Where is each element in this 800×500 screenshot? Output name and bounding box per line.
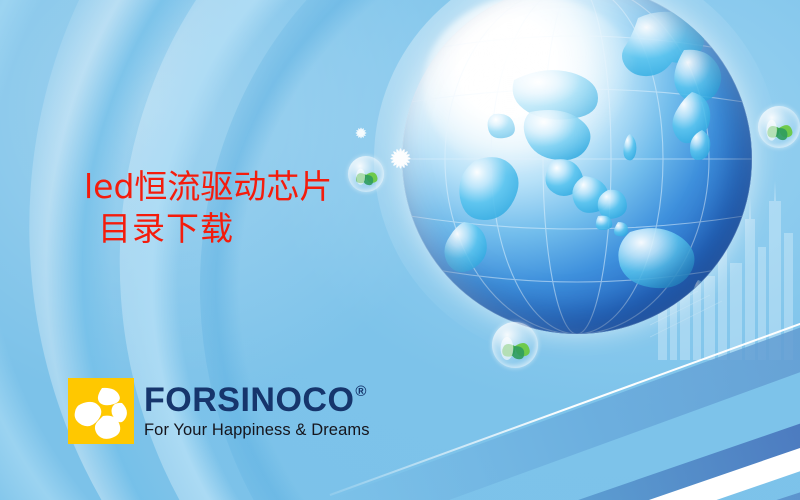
headline-line-2: 目录下载 — [98, 208, 332, 250]
brand-logo: FORSINOCO® For Your Happiness & Dreams — [68, 378, 370, 444]
headline: led恒流驱动芯片 目录下载 — [84, 166, 332, 249]
bubble-lower — [492, 322, 538, 368]
bubble-right-edge — [758, 106, 800, 148]
logo-mark-pinwheel-icon — [68, 378, 134, 444]
promo-banner: led恒流驱动芯片 目录下载 FORSINOCO® For Your Happi… — [0, 0, 800, 500]
ribbon-blue-dark — [424, 371, 800, 500]
ribbon-blue-dark-2 — [468, 434, 800, 500]
ribbon-white-fat — [426, 394, 800, 500]
brand-tagline: For Your Happiness & Dreams — [144, 422, 370, 439]
bubble-mid-left — [348, 156, 384, 192]
flower-small-icon — [352, 124, 370, 142]
logo-text-block: FORSINOCO® For Your Happiness & Dreams — [144, 383, 370, 439]
green-leaf-pinwheel-icon — [758, 106, 800, 148]
green-leaf-pinwheel-icon — [492, 322, 538, 368]
four-petal-pinwheel-icon — [68, 378, 134, 444]
earth-globe — [402, 0, 752, 334]
headline-line-1: led恒流驱动芯片 — [84, 166, 332, 208]
green-leaf-pinwheel-icon — [348, 156, 384, 192]
brand-wordmark: FORSINOCO® — [144, 383, 370, 417]
flower-large-icon — [385, 143, 416, 174]
brand-wordmark-text: FORSINOCO — [144, 383, 354, 417]
globe-rim-shading — [402, 0, 752, 334]
registered-trademark-symbol: ® — [355, 384, 367, 399]
